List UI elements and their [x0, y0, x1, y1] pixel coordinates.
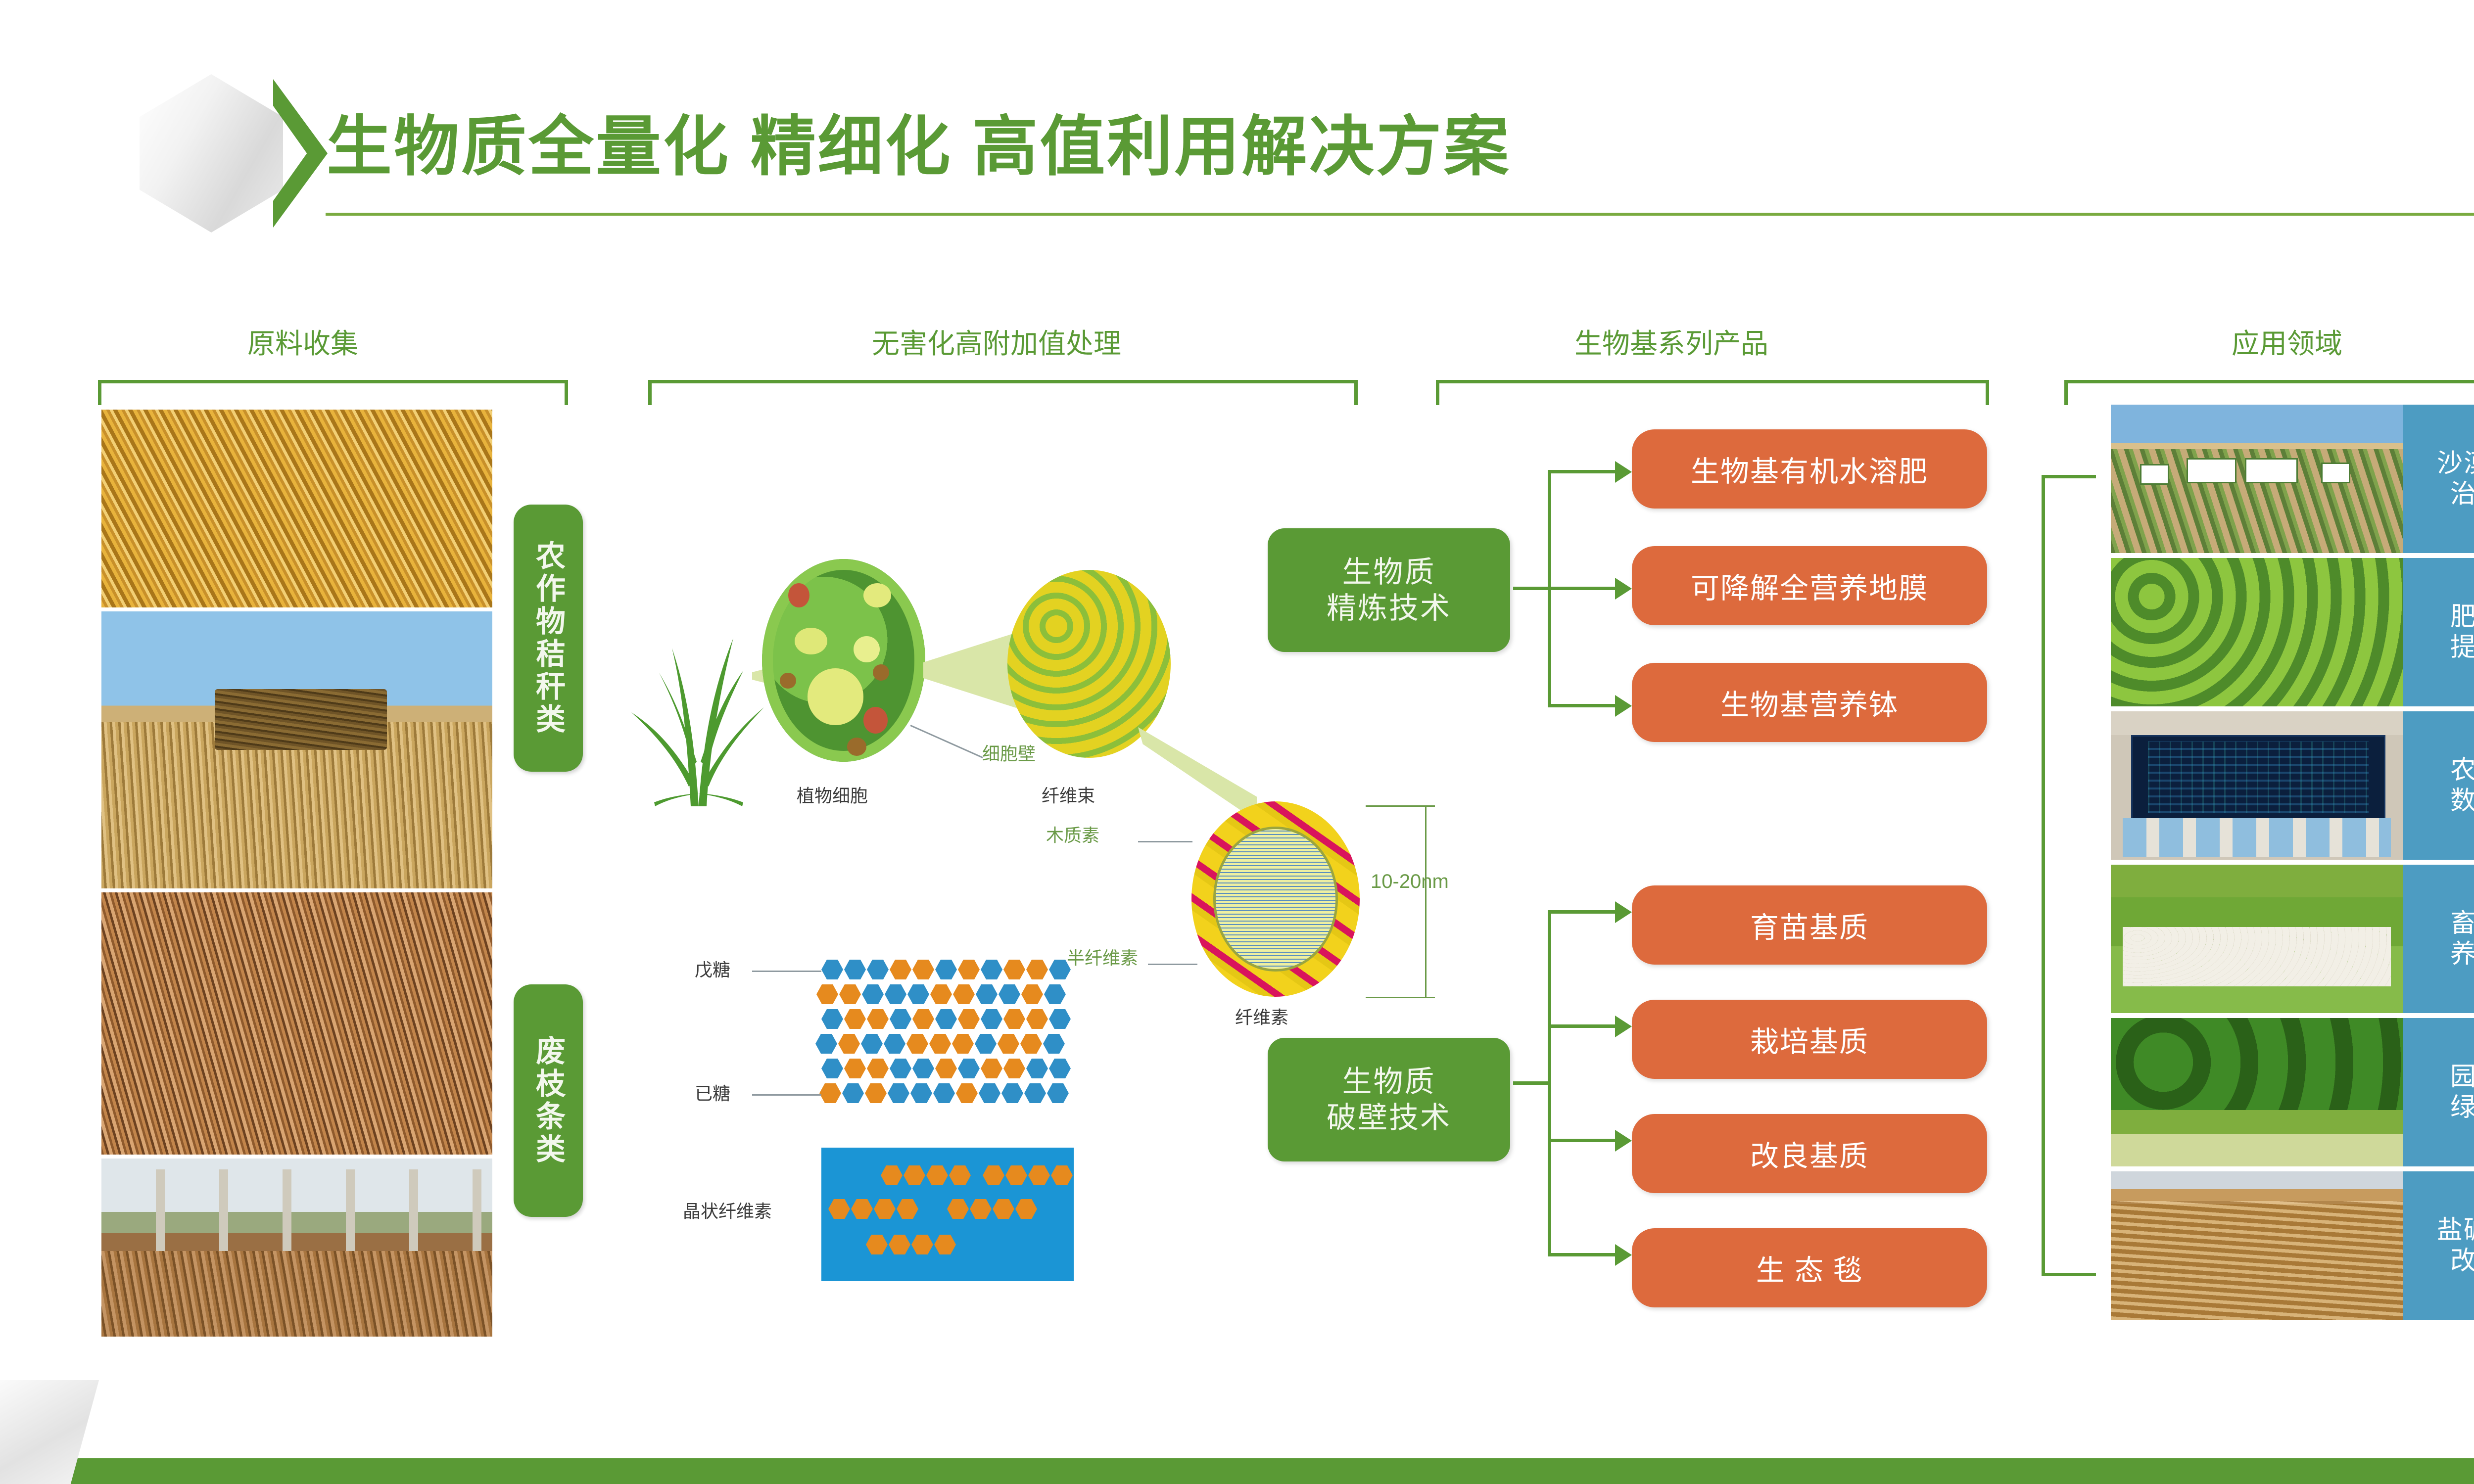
label-plant-cell: 植物细胞	[797, 782, 868, 807]
title-underline	[326, 213, 2474, 216]
tech-box-cellwall-line1: 生物质	[1342, 1064, 1436, 1100]
fiber-bundle-illustration	[1007, 570, 1171, 758]
feedstock-category-waste-branch[interactable]: 废枝条类	[514, 984, 583, 1217]
bracket-feedstock	[98, 380, 568, 405]
section-title-products: 生物基系列产品	[1574, 322, 1768, 362]
application-desert-line2: 治理	[2450, 479, 2474, 510]
product-improvement-substrate[interactable]: 改良基质	[1632, 1114, 1987, 1193]
application-livestock-line2: 养殖	[2450, 939, 2474, 970]
bracket-processing	[648, 380, 1358, 405]
application-soil-fertility[interactable]: 肥力 提升	[2403, 558, 2474, 706]
tech-box-cell-wall-breaking[interactable]: 生物质 破壁技术	[1268, 1038, 1510, 1161]
label-crystalline-cellulose: 晶状纤维素	[683, 1197, 772, 1223]
label-cellulose: 纤维素	[1235, 1003, 1288, 1029]
grass-plant-icon	[624, 549, 773, 811]
label-lignin: 木质素	[1046, 821, 1099, 847]
application-fertility-line2: 提升	[2450, 632, 2474, 663]
feedstock-category-crop-straw[interactable]: 农作物秸秆类	[514, 505, 583, 772]
product-seedling-substrate[interactable]: 育苗基质	[1632, 885, 1987, 965]
section-title-processing: 无害化高附加值处理	[872, 322, 1121, 362]
photo-dry-branches	[101, 892, 492, 1155]
photo-vegetable-field	[2111, 558, 2403, 706]
leader-line-hemicellulose	[1148, 964, 1197, 965]
product-ecological-blanket[interactable]: 生 态 毯	[1632, 1228, 1987, 1307]
application-agriculture-data[interactable]: 农业 数据	[2403, 711, 2474, 860]
plant-cell-illustration	[762, 559, 925, 762]
application-saline-line1: 盐碱地	[2437, 1215, 2474, 1246]
application-livestock-line1: 畜牧	[2450, 908, 2474, 939]
leader-line-pentose	[752, 971, 821, 972]
page-title: 生物质全量化 精细化 高值利用解决方案	[327, 94, 1511, 188]
tech-box-biomass-refining[interactable]: 生物质 精炼技术	[1268, 528, 1510, 652]
application-data-line1: 农业	[2450, 755, 2474, 786]
photo-corn-stover	[101, 410, 492, 607]
photo-vineyard-pruning	[101, 1159, 492, 1337]
label-hexose: 已糖	[695, 1079, 730, 1105]
photo-livestock-grazing	[2111, 865, 2403, 1013]
tech-box-refining-line2: 精炼技术	[1327, 590, 1451, 626]
label-fiber-bundle: 纤维束	[1042, 782, 1095, 807]
product-bio-nutrient-pot[interactable]: 生物基营养钵	[1632, 663, 1987, 742]
tech-box-cellwall-line2: 破壁技术	[1327, 1100, 1451, 1136]
product-bio-organic-water-soluble-fertilizer[interactable]: 生物基有机水溶肥	[1632, 429, 1987, 509]
label-pentose: 戊糖	[695, 956, 730, 981]
dimension-caliper	[1366, 805, 1440, 998]
photo-landscape-greening	[2111, 1018, 2403, 1166]
photo-desertification-control	[2111, 405, 2403, 553]
label-cell-wall: 细胞壁	[982, 740, 1036, 765]
magnify-beam-3	[1138, 727, 1257, 821]
application-desert-line1: 沙漠化	[2437, 448, 2474, 479]
application-saline-alkali-improvement[interactable]: 盐碱地 改良	[2403, 1171, 2474, 1320]
connector-applications-bracket	[2042, 475, 2101, 1276]
crystalline-cellulose-illustration	[821, 1148, 1074, 1281]
hexagon-logo-shape	[140, 74, 283, 232]
footer-bar	[0, 1458, 2474, 1484]
bracket-products	[1436, 380, 1989, 405]
label-dimension: 10-20nm	[1371, 871, 1449, 893]
infographic-canvas: 生物质全量化 精细化 高值利用解决方案 原料收集 无害化高附加值处理 生物基系列…	[0, 0, 2474, 1484]
leader-line-cell-wall	[910, 725, 983, 758]
application-saline-line2: 改良	[2450, 1246, 2474, 1276]
application-landscape-greening[interactable]: 园林 绿化	[2403, 1018, 2474, 1166]
photo-saline-alkali-land	[2111, 1171, 2403, 1320]
cellulose-cross-section-illustration	[1191, 801, 1360, 997]
leader-line-lignin	[1138, 841, 1192, 842]
application-greening-line1: 园林	[2450, 1062, 2474, 1092]
section-title-feedstock: 原料收集	[247, 322, 358, 362]
application-fertility-line1: 肥力	[2450, 602, 2474, 632]
sugar-chain-illustration	[821, 960, 1098, 1108]
application-greening-line2: 绿化	[2450, 1092, 2474, 1123]
connector-cellwall-group	[1513, 910, 1637, 1256]
application-desertification-control[interactable]: 沙漠化 治理	[2403, 405, 2474, 553]
section-title-applications: 应用领域	[2232, 322, 2342, 362]
product-cultivation-substrate[interactable]: 栽培基质	[1632, 1000, 1987, 1079]
bracket-applications	[2064, 380, 2474, 405]
photo-agriculture-data-center	[2111, 711, 2403, 860]
product-degradable-nutrient-mulch-film[interactable]: 可降解全营养地膜	[1632, 546, 1987, 625]
tech-box-refining-line1: 生物质	[1342, 554, 1436, 590]
connector-refining-group	[1513, 470, 1637, 707]
application-livestock-breeding[interactable]: 畜牧 养殖	[2403, 865, 2474, 1013]
leader-line-hexose	[752, 1094, 821, 1096]
photo-straw-bale-field	[101, 611, 492, 888]
application-data-line2: 数据	[2450, 786, 2474, 816]
